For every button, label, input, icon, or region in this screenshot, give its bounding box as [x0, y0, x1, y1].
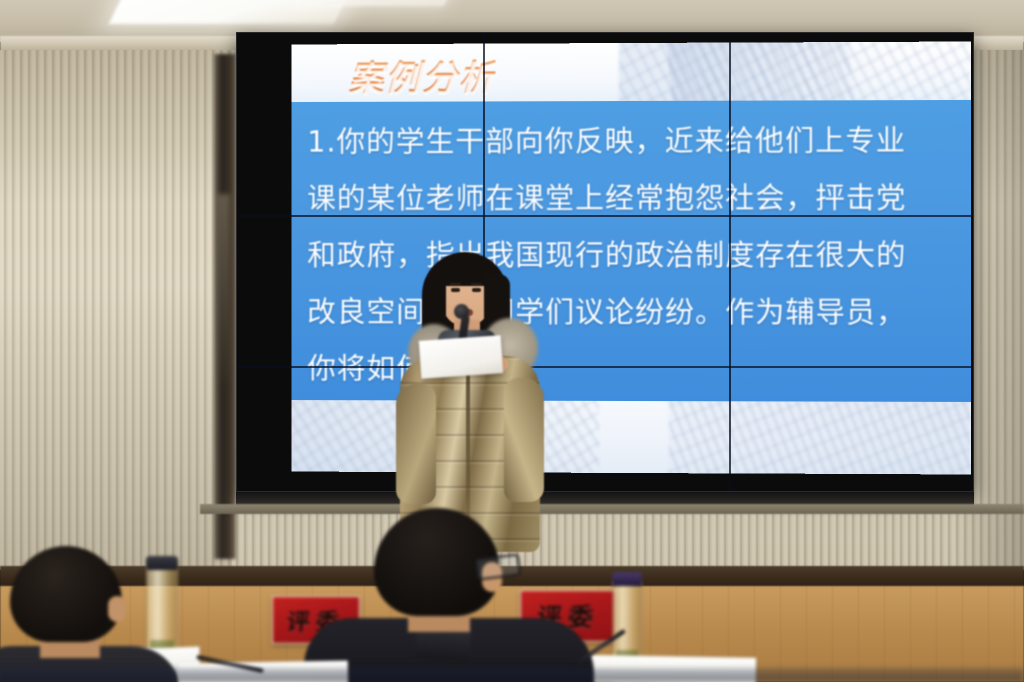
- slide-header-band: 案例分析: [291, 42, 971, 103]
- audience-left-head: [10, 546, 122, 642]
- eyeglasses-icon: [475, 553, 521, 580]
- presenter: [388, 252, 548, 552]
- slide-title: 案例分析: [349, 50, 496, 101]
- panel-seam-vertical-2: [729, 33, 731, 491]
- slide-body-line-1: 1.你的学生干部向你反映，近来给他们上专业: [307, 112, 955, 171]
- table-front-edge: [0, 668, 1024, 682]
- presenter-arm-right: [504, 378, 544, 502]
- ceiling-light-panel-secondary: [294, 0, 456, 6]
- presenter-eyebrow-left: [450, 283, 461, 285]
- tea-thermos-2-lid: [612, 572, 642, 586]
- presenter-eye-right: [472, 288, 481, 292]
- presenter-paper-sheet: [419, 335, 503, 379]
- presenter-arm-left: [396, 384, 436, 504]
- audience-member-left: [0, 546, 182, 682]
- panel-seam-horizontal-2: [237, 366, 973, 368]
- video-wall[interactable]: 案例分析 1.你的学生干部向你反映，近来给他们上专业 课的某位老师在课堂上经常抱…: [236, 32, 974, 492]
- panel-seam-horizontal-1: [237, 215, 973, 217]
- audience-member-center: [330, 508, 560, 682]
- slide-body-line-2: 课的某位老师在课堂上经常抱怨社会，抨击党: [307, 169, 955, 227]
- wall-left-section: [0, 50, 232, 570]
- video-wall-screen-area: 案例分析 1.你的学生干部向你反映，近来给他们上专业 课的某位老师在课堂上经常抱…: [237, 33, 973, 491]
- presentation-scene-photo: 案例分析 1.你的学生干部向你反映，近来给他们上专业 课的某位老师在课堂上经常抱…: [0, 0, 1024, 682]
- wall-trim-left: [214, 54, 236, 559]
- header-building-image-2: [664, 42, 854, 103]
- footer-building-image-2: [669, 400, 971, 474]
- presenter-eye-left: [451, 288, 460, 292]
- stage-ledge: [200, 504, 1024, 514]
- presenter-eyebrow-right: [471, 283, 482, 285]
- audience-left-ear: [108, 596, 126, 622]
